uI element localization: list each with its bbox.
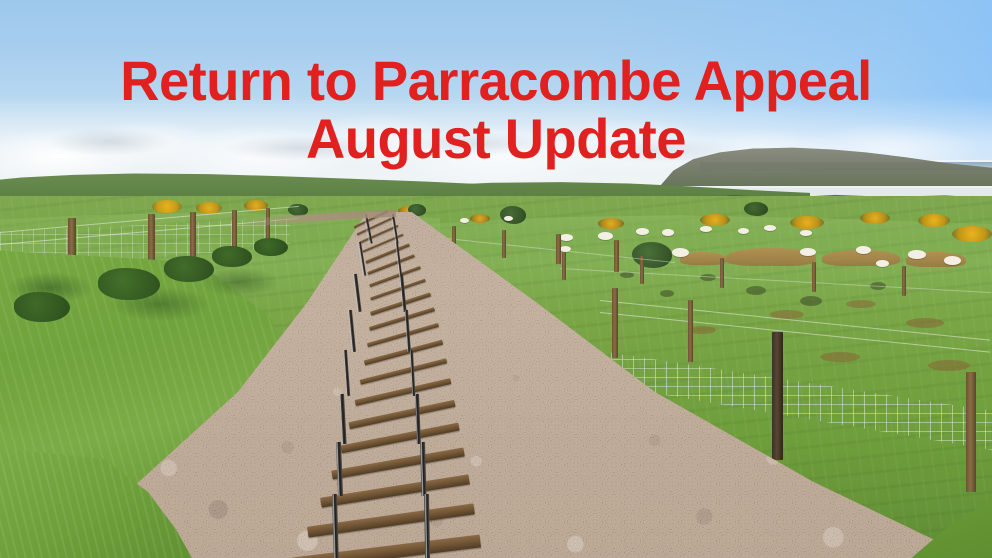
photo-banner: Return to Parracombe Appeal August Updat… (0, 0, 992, 558)
